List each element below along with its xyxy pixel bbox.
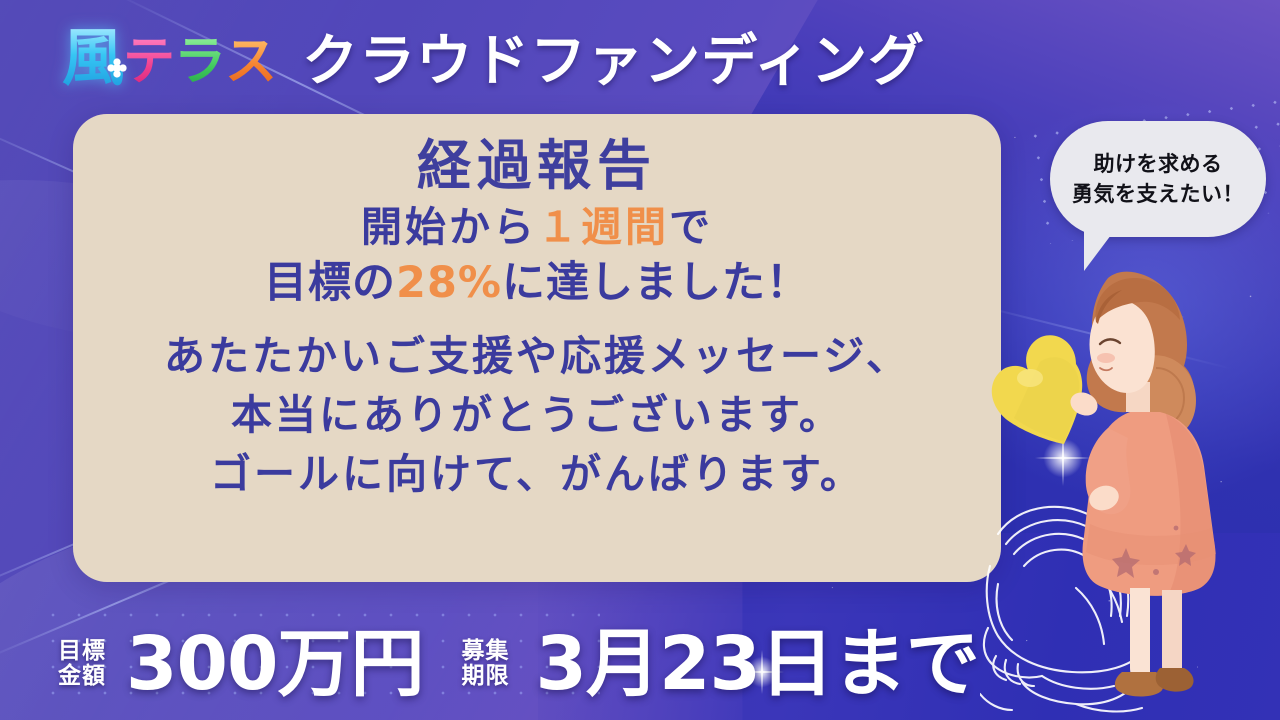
footer-bar: 目標 金額 300万円 募集 期限 3月23日まで	[0, 608, 1280, 720]
speech-bubble-tail	[1084, 231, 1128, 271]
paragraph-line-2: 本当にありがとうございます。	[164, 386, 910, 445]
card-line-1-prefix: 開始から	[361, 203, 537, 251]
speech-bubble: 助けを求める 勇気を支えたい！	[1050, 121, 1266, 237]
card-heading: 経過報告	[417, 136, 657, 196]
goal-amount-label-line-1: 目標	[58, 639, 106, 664]
goal-amount-label: 目標 金額	[58, 639, 106, 689]
paragraph-line-3: ゴールに向けて、がんばります。	[164, 445, 910, 504]
header: 風 テ ラ ス クラウドファンディング	[0, 0, 1280, 112]
card-line-1-highlight: １週間	[537, 203, 669, 251]
speech-bubble-line-2: 勇気を支えたい！	[1072, 179, 1244, 209]
card-line-2-highlight: 28%	[396, 258, 502, 308]
logo-char-kaze: 風	[62, 27, 123, 89]
brand-logo: 風 テ ラ ス	[62, 27, 276, 89]
deadline-label: 募集 期限	[461, 639, 509, 689]
deadline-label-line-1: 募集	[461, 639, 509, 664]
goal-amount-value: 300万円	[126, 627, 423, 701]
card-line-2: 目標の28%に達しました！	[264, 255, 810, 313]
logo-char-te: テ	[123, 36, 174, 88]
poster-canvas: 風 テ ラ ス クラウドファンディング 経過報告 開始から１週間で 目標の28%…	[0, 0, 1280, 720]
deadline-value: 3月23日まで	[535, 627, 978, 701]
goal-amount-label-line-2: 金額	[58, 664, 106, 689]
card-line-2-prefix: 目標の	[264, 258, 396, 308]
card-line-1-suffix: で	[669, 203, 713, 251]
page-title: クラウドファンディング	[302, 16, 925, 97]
thank-you-paragraph: あたたかいご支援や応援メッセージ、 本当にありがとうございます。 ゴールに向けて…	[164, 327, 910, 504]
speech-bubble-line-1: 助けを求める	[1094, 149, 1223, 179]
progress-report-card: 経過報告 開始から１週間で 目標の28%に達しました！ あたたかいご支援や応援メ…	[73, 114, 1001, 582]
deadline-label-line-2: 期限	[461, 664, 509, 689]
paragraph-line-1: あたたかいご支援や応援メッセージ、	[164, 327, 910, 386]
card-line-2-suffix: に達しました！	[502, 258, 810, 308]
logo-char-su: ス	[225, 36, 276, 88]
card-line-1: 開始から１週間で	[361, 200, 713, 255]
logo-char-ra: ラ	[174, 36, 225, 88]
